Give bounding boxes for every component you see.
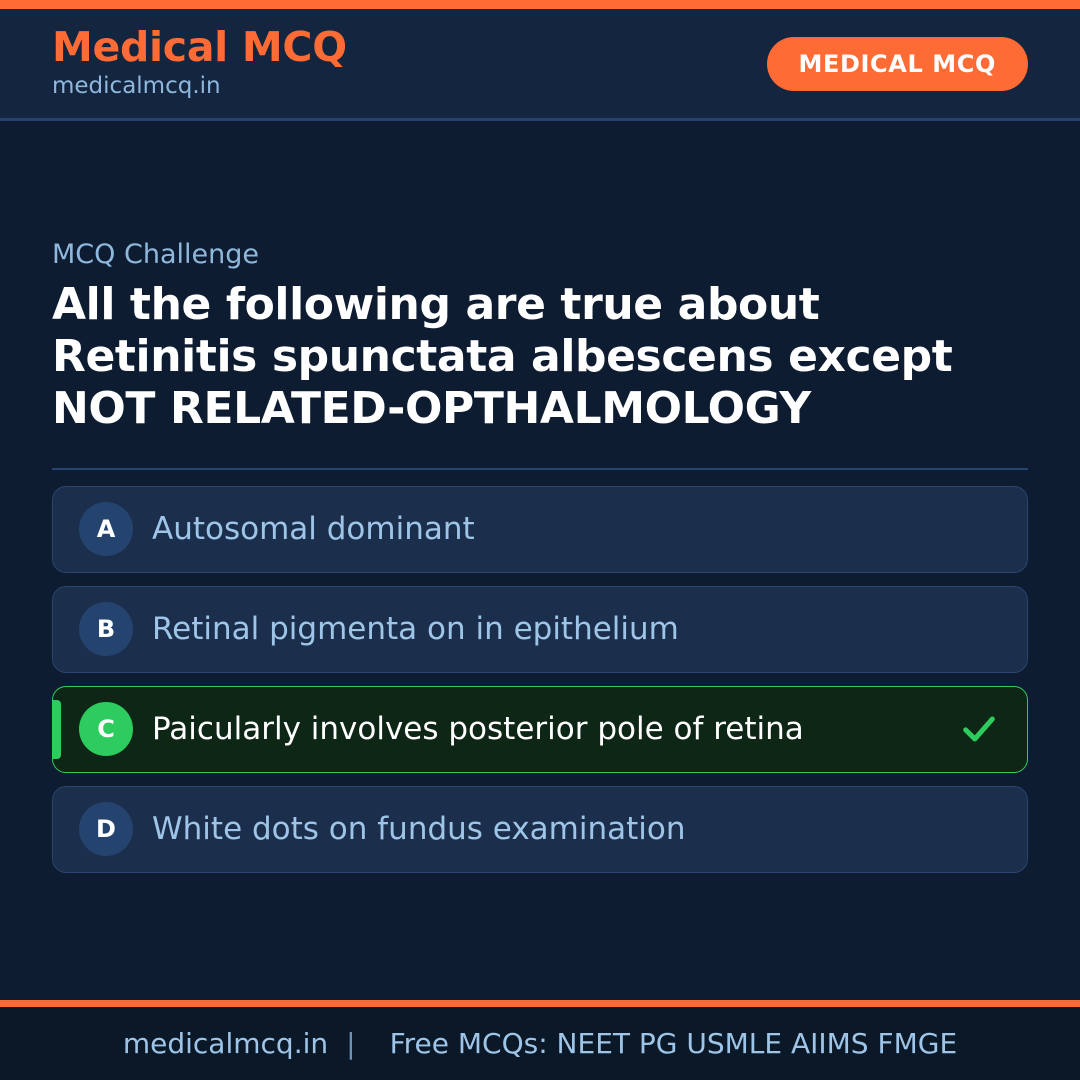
brand: Medical MCQ medicalmcq.in — [52, 26, 347, 100]
eyebrow-label: MCQ Challenge — [52, 239, 1028, 270]
question-divider — [52, 468, 1028, 470]
footer-tagline: Free MCQs: NEET PG USMLE AIIMS FMGE — [374, 1030, 958, 1058]
option-letter-badge: C — [79, 702, 133, 756]
top-accent-bar — [0, 0, 1080, 9]
footer-separator: | — [328, 1030, 373, 1058]
check-icon — [957, 707, 1001, 751]
brand-subtitle: medicalmcq.in — [52, 72, 347, 101]
option-text: Paicularly involves posterior pole of re… — [152, 711, 945, 748]
header: Medical MCQ medicalmcq.in MEDICAL MCQ — [0, 9, 1080, 121]
question-text: All the following are true about Retinit… — [52, 279, 982, 435]
footer-accent-bar — [0, 1000, 1080, 1007]
bottom-spacer — [52, 873, 1028, 1000]
option-text: Retinal pigmenta on in epithelium — [152, 611, 1001, 648]
option-text: Autosomal dominant — [152, 511, 1001, 548]
option-row-c[interactable]: C Paicularly involves posterior pole of … — [52, 686, 1028, 773]
option-letter-badge: A — [79, 502, 133, 556]
option-row-a[interactable]: A Autosomal dominant — [52, 486, 1028, 573]
option-letter-badge: B — [79, 602, 133, 656]
option-row-d[interactable]: D White dots on fundus examination — [52, 786, 1028, 873]
mcq-card: Medical MCQ medicalmcq.in MEDICAL MCQ MC… — [0, 0, 1080, 1080]
option-text: White dots on fundus examination — [152, 811, 1001, 848]
footer-site: medicalmcq.in — [123, 1030, 328, 1058]
options-list: A Autosomal dominant B Retinal pigmenta … — [52, 486, 1028, 873]
header-badge: MEDICAL MCQ — [767, 37, 1028, 91]
option-row-b[interactable]: B Retinal pigmenta on in epithelium — [52, 586, 1028, 673]
brand-title: Medical MCQ — [52, 26, 347, 69]
correct-accent-bar — [53, 700, 61, 759]
main-content: MCQ Challenge All the following are true… — [0, 121, 1080, 1000]
option-letter-badge: D — [79, 802, 133, 856]
footer: medicalmcq.in | Free MCQs: NEET PG USMLE… — [0, 1007, 1080, 1080]
